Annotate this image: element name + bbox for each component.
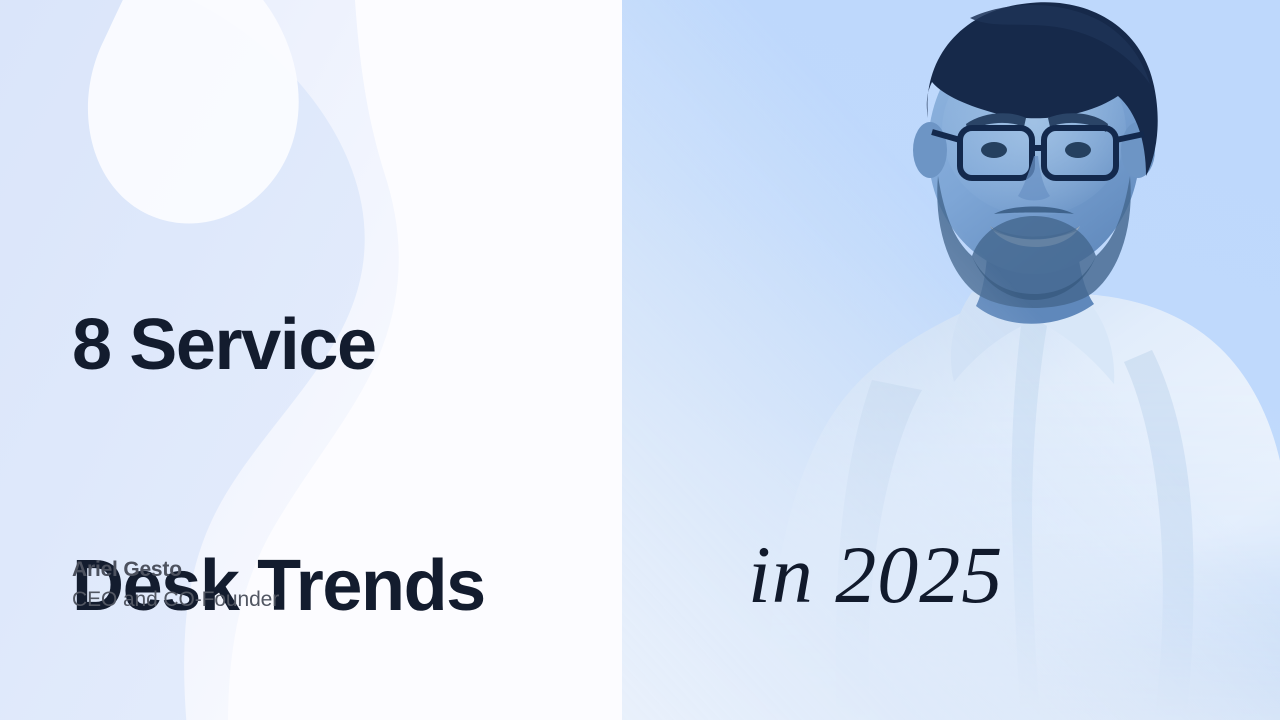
- eye-left: [981, 142, 1007, 158]
- eye-right: [1065, 142, 1091, 158]
- presentation-slide: 8 Service Desk Trends to Look Out for in…: [0, 0, 1280, 720]
- title-line-1: 8 Service: [72, 305, 792, 385]
- author-role: CEO and CO-Founder: [72, 586, 279, 614]
- author-name: Ariel Gesto: [72, 556, 279, 584]
- ear-left: [913, 122, 947, 178]
- author-block: Ariel Gesto CEO and CO-Founder: [72, 556, 279, 615]
- year-script-text: in 2025: [748, 534, 1003, 616]
- page-title: 8 Service Desk Trends to Look Out for: [72, 144, 792, 720]
